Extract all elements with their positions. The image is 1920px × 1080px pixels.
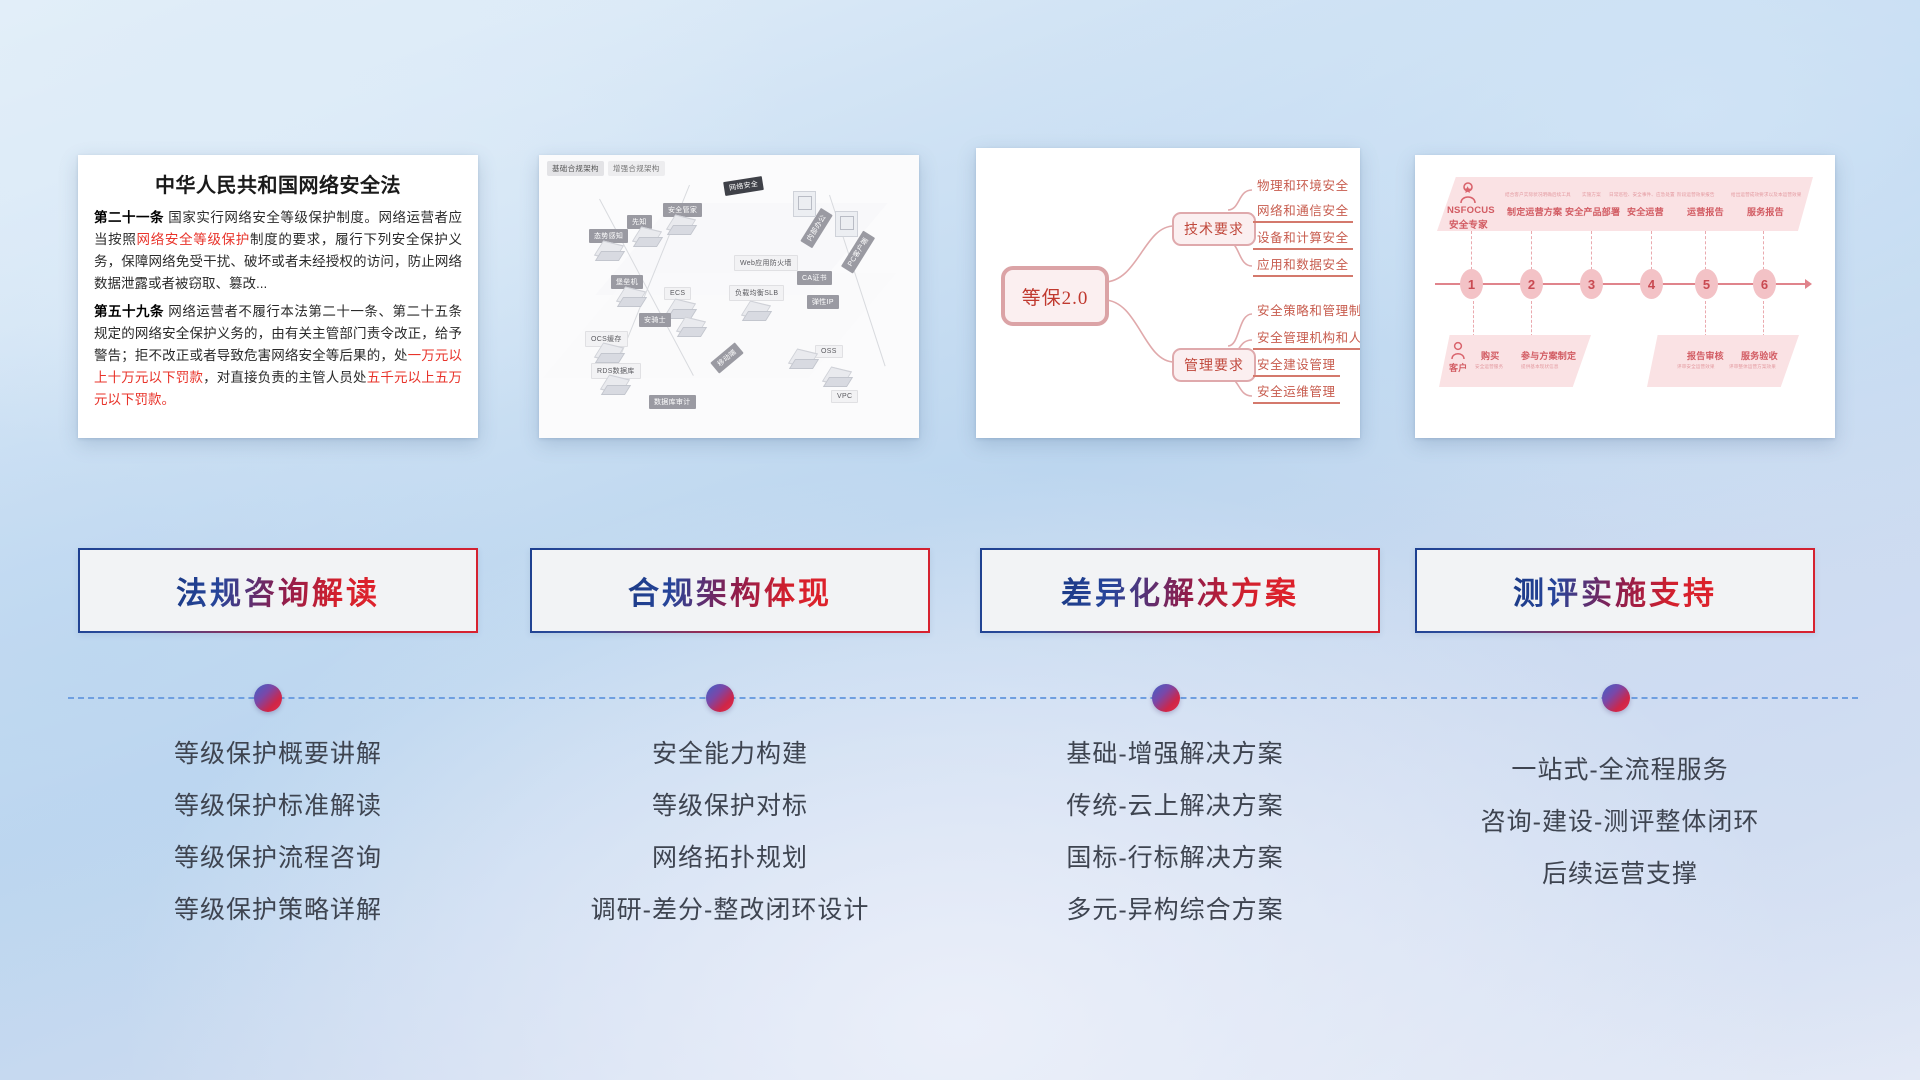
timeline-dot-2[interactable] <box>706 684 734 712</box>
list-item: 基础-增强解决方案 <box>965 742 1385 767</box>
label-text-regulation-consulting: 法规咨询解读 <box>176 568 380 613</box>
feature-column-1: 等级保护概要讲解 等级保护标准解读 等级保护流程咨询 等级保护策略详解 <box>68 742 488 950</box>
list-item: 等级保护策略详解 <box>68 898 488 923</box>
list-item: 传统-云上解决方案 <box>965 794 1385 819</box>
label-box-regulation-consulting[interactable]: 法规咨询解读 <box>78 548 478 633</box>
list-item: 等级保护对标 <box>520 794 940 819</box>
list-item: 安全能力构建 <box>520 742 940 767</box>
list-item: 一站式-全流程服务 <box>1410 758 1830 783</box>
list-item: 调研-差分-整改闭环设计 <box>520 898 940 923</box>
list-item: 网络拓扑规划 <box>520 846 940 871</box>
feature-column-4: 一站式-全流程服务 咨询-建设-测评整体闭环 后续运营支撑 <box>1410 758 1830 914</box>
list-item: 多元-异构综合方案 <box>965 898 1385 923</box>
label-box-differentiated-solution[interactable]: 差异化解决方案 <box>980 548 1380 633</box>
feature-column-3: 基础-增强解决方案 传统-云上解决方案 国标-行标解决方案 多元-异构综合方案 <box>965 742 1385 950</box>
list-item: 等级保护概要讲解 <box>68 742 488 767</box>
timeline-dot-1[interactable] <box>254 684 282 712</box>
list-item: 咨询-建设-测评整体闭环 <box>1410 810 1830 835</box>
label-text-compliance-architecture: 合规架构体现 <box>628 568 832 613</box>
list-item: 后续运营支撑 <box>1410 862 1830 887</box>
list-item: 等级保护标准解读 <box>68 794 488 819</box>
list-item: 国标-行标解决方案 <box>965 846 1385 871</box>
label-text-differentiated-solution: 差异化解决方案 <box>1061 568 1299 613</box>
timeline-dot-3[interactable] <box>1152 684 1180 712</box>
label-text-assessment-support: 测评实施支持 <box>1513 568 1717 613</box>
label-box-compliance-architecture[interactable]: 合规架构体现 <box>530 548 930 633</box>
timeline-dashed-line <box>68 697 1858 699</box>
feature-column-2: 安全能力构建 等级保护对标 网络拓扑规划 调研-差分-整改闭环设计 <box>520 742 940 950</box>
label-box-assessment-support[interactable]: 测评实施支持 <box>1415 548 1815 633</box>
list-item: 等级保护流程咨询 <box>68 846 488 871</box>
timeline-dot-4[interactable] <box>1602 684 1630 712</box>
slide-canvas: 中华人民共和国网络安全法 第二十一条 国家实行网络安全等级保护制度。网络运营者应… <box>0 0 1920 1080</box>
